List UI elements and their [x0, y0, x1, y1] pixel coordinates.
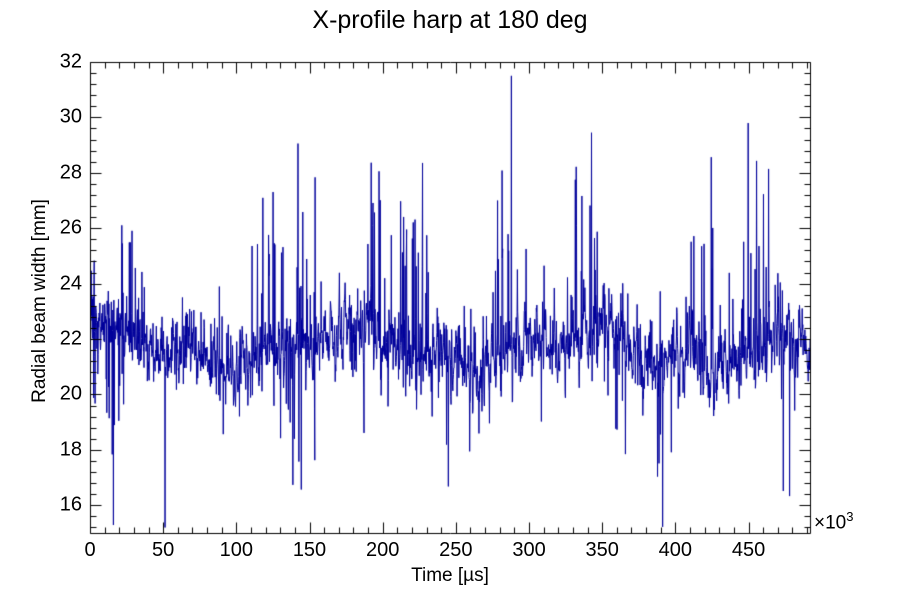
y-tick-label: 24 [60, 272, 82, 295]
x-axis-title: Time [µs] [0, 565, 900, 587]
x-tick-label: 250 [439, 539, 472, 562]
y-tick-label: 18 [60, 438, 82, 461]
y-tick-label: 30 [60, 106, 82, 129]
y-tick-label: 22 [60, 328, 82, 351]
y-tick-label: 20 [60, 383, 82, 406]
y-tick-label: 32 [60, 51, 82, 74]
x-tick-label: 400 [659, 539, 692, 562]
multiplier-exponent: 3 [846, 509, 853, 524]
page-title: X-profile harp at 180 deg [0, 6, 900, 35]
plot-canvas [0, 0, 900, 600]
x-tick-label: 450 [732, 539, 765, 562]
x-tick-label: 300 [512, 539, 545, 562]
multiplier-mantissa: ×10 [814, 512, 846, 533]
x-tick-label: 50 [152, 539, 174, 562]
x-tick-label: 100 [220, 539, 253, 562]
x-tick-label: 200 [366, 539, 399, 562]
x-axis-multiplier-label: ×103 [814, 509, 853, 534]
y-axis-title: Radial beam width [mm] [29, 151, 51, 451]
y-tick-label: 26 [60, 217, 82, 240]
x-tick-label: 150 [293, 539, 326, 562]
x-tick-label: 350 [586, 539, 619, 562]
y-tick-label: 16 [60, 494, 82, 517]
y-tick-label: 28 [60, 161, 82, 184]
x-tick-label: 0 [84, 539, 95, 562]
